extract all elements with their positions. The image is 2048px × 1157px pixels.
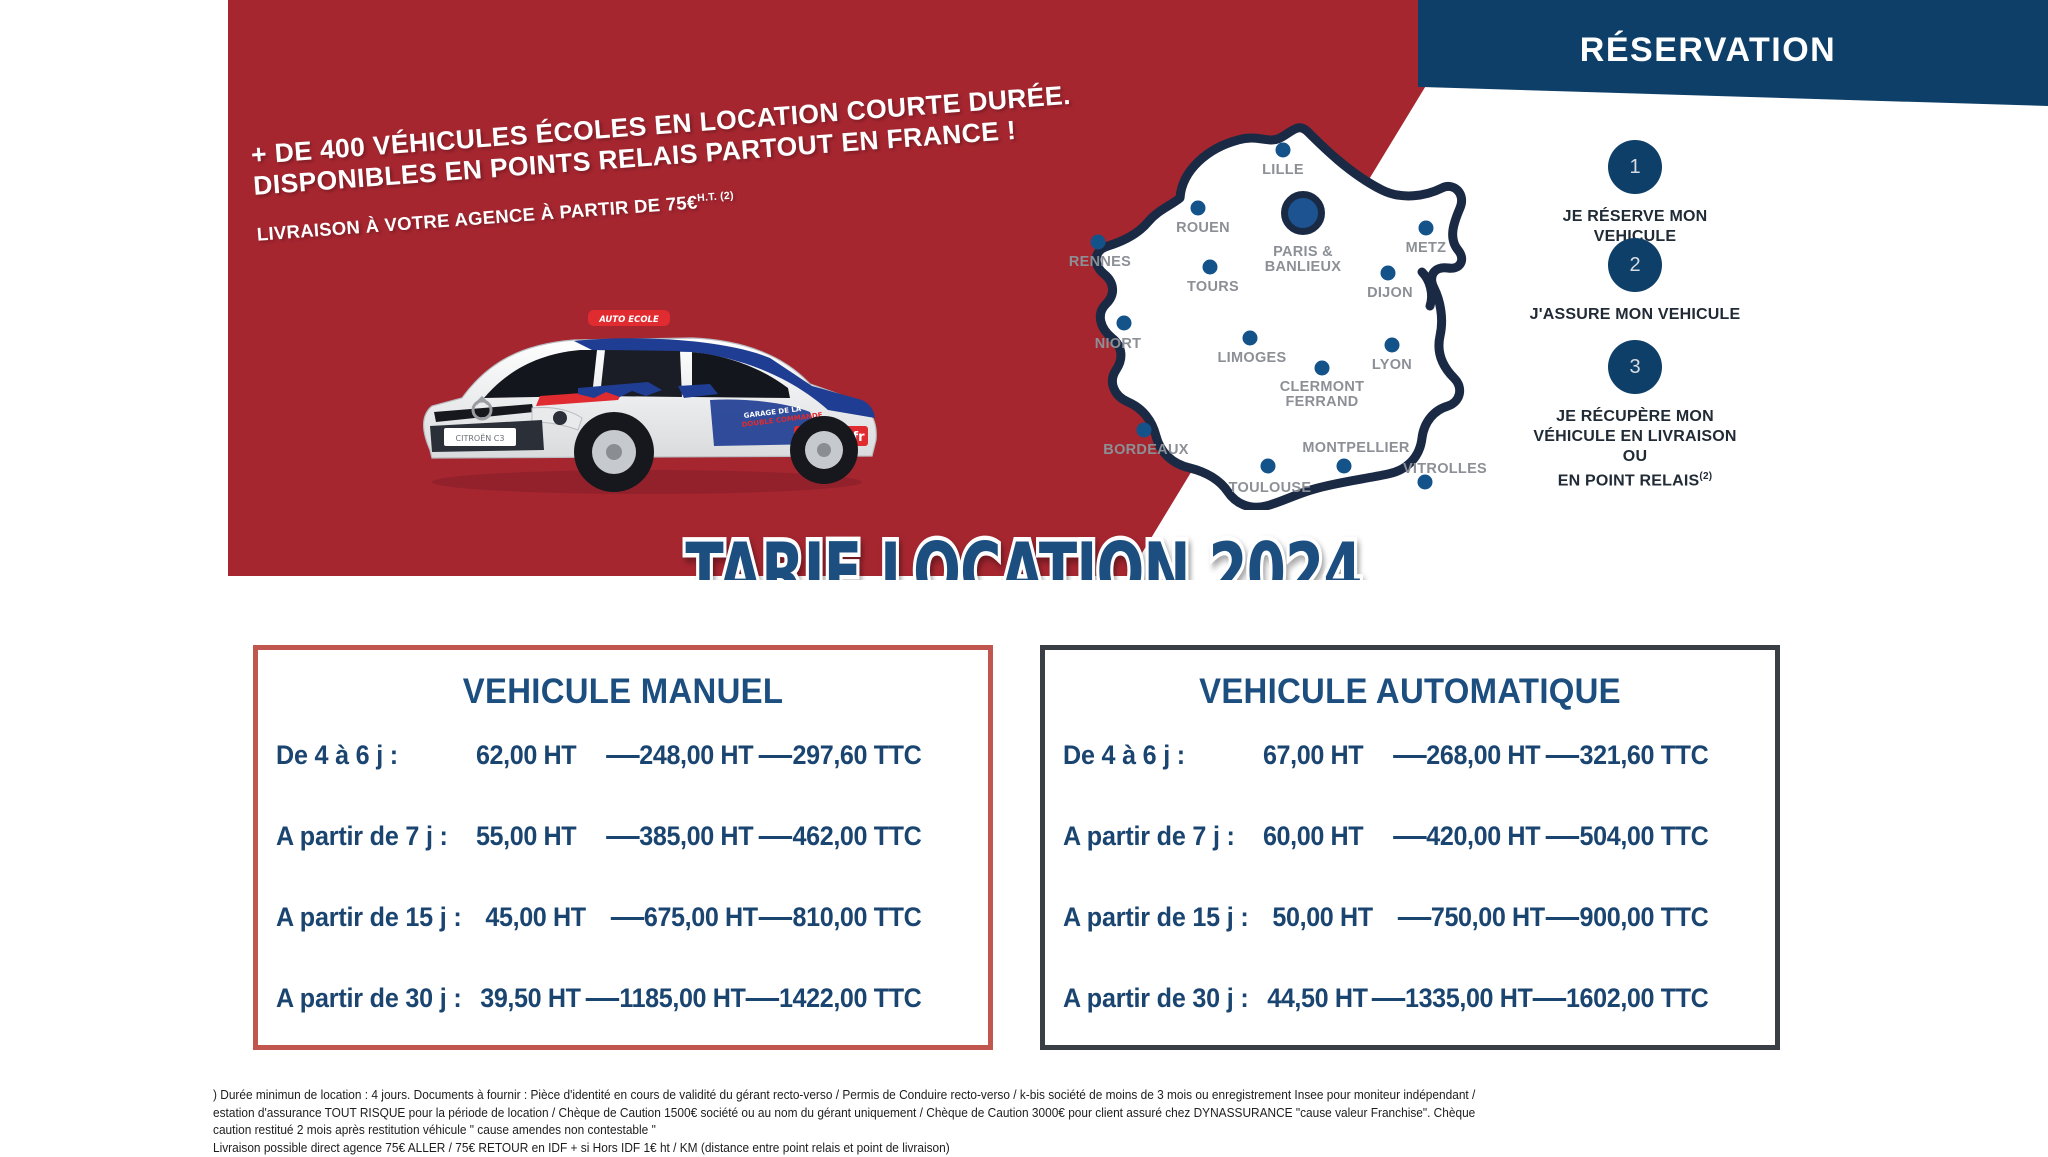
price-separator-rule xyxy=(1546,836,1579,839)
map-city-label-line: LYON xyxy=(1372,357,1412,373)
map-city-dot xyxy=(1243,331,1258,346)
map-city-dot xyxy=(1276,143,1291,158)
map-city-label: RENNES xyxy=(1069,254,1131,270)
reservation-step-1[interactable]: 1JE RÉSERVE MONVEHICULE xyxy=(1470,140,1800,247)
price-row-duration-label: De 4 à 6 j : xyxy=(1063,740,1236,771)
map-city-label-line: BANLIEUX xyxy=(1265,260,1342,275)
price-daily-ht: 60,00 HT xyxy=(1236,821,1364,852)
map-city-label-line: TOULOUSE xyxy=(1229,480,1312,496)
reservation-step-number-badge: 3 xyxy=(1608,340,1662,394)
map-city-dot xyxy=(1337,459,1352,474)
price-row-duration-label: De 4 à 6 j : xyxy=(276,740,449,771)
map-city-dot xyxy=(1091,235,1106,250)
price-separator-rule xyxy=(610,917,643,920)
price-separator-rule xyxy=(1532,998,1565,1001)
reservation-step-label-line: OU xyxy=(1470,447,1800,467)
map-city-label-line: BORDEAUX xyxy=(1103,442,1188,458)
legal-footnotes: ) Durée minimun de location : 4 jours. D… xyxy=(213,1087,1828,1157)
map-city-label-line: CLERMONT xyxy=(1280,380,1365,395)
price-total-ttc: 462,00 TTC xyxy=(753,821,921,852)
reservation-step-label: JE RÉCUPÈRE MONVÉHICULE EN LIVRAISONOUEN… xyxy=(1470,407,1800,491)
reservation-step-label-line: J'ASSURE MON VEHICULE xyxy=(1470,305,1800,325)
price-row: A partir de 15 j :50,00 HT750,00 HT900,0… xyxy=(1063,902,1708,983)
price-total-ht: 750,00 HT xyxy=(1373,902,1545,933)
auto-ecole-roof-sign: AUTO ECOLE xyxy=(588,310,670,326)
price-total-ttc: 297,60 TTC xyxy=(753,740,921,771)
map-city-dot xyxy=(1315,361,1330,376)
map-city-label: LILLE xyxy=(1262,162,1304,178)
map-city-label-line: NIORT xyxy=(1095,336,1142,352)
map-city-dot xyxy=(1281,191,1325,235)
reservation-step-2[interactable]: 2J'ASSURE MON VEHICULE xyxy=(1470,238,1800,325)
price-daily-ht: 45,00 HT xyxy=(462,902,586,933)
price-separator-rule xyxy=(1393,836,1426,839)
price-row: A partir de 7 j :60,00 HT420,00 HT504,00… xyxy=(1063,821,1708,902)
map-city-label: LYON xyxy=(1372,357,1412,373)
map-city-label-line: MONTPELLIER xyxy=(1302,440,1409,456)
price-separator-rule xyxy=(586,998,619,1001)
price-card-title: VEHICULE AUTOMATIQUE xyxy=(1067,672,1753,712)
price-separator-rule xyxy=(745,998,778,1001)
reservation-title: RÉSERVATION xyxy=(1418,0,1998,100)
map-city-dot xyxy=(1261,459,1276,474)
map-city-label-line: PARIS & xyxy=(1265,245,1342,260)
reservation-step-number-badge: 1 xyxy=(1608,140,1662,194)
price-row: A partir de 7 j :55,00 HT385,00 HT462,00… xyxy=(276,821,921,902)
price-total-ht: 1335,00 HT xyxy=(1368,983,1533,1014)
price-row-duration-label: A partir de 15 j : xyxy=(1063,902,1249,933)
map-city-label: LIMOGES xyxy=(1218,350,1287,366)
map-city-label-line: DIJON xyxy=(1367,285,1413,301)
map-city-label: MONTPELLIER xyxy=(1302,440,1409,456)
footnote-line-2: estation d'assurance TOUT RISQUE pour la… xyxy=(213,1105,1828,1123)
map-city-label-line: FERRAND xyxy=(1280,395,1365,410)
footnote-line-4: Livraison possible direct agence 75€ ALL… xyxy=(213,1140,1828,1157)
price-total-ht: 248,00 HT xyxy=(576,740,753,771)
map-city-label-line: RENNES xyxy=(1069,254,1131,270)
price-daily-ht: 62,00 HT xyxy=(449,740,577,771)
map-city-dot xyxy=(1137,423,1152,438)
price-separator-rule xyxy=(1393,755,1426,758)
price-total-ttc: 900,00 TTC xyxy=(1545,902,1709,933)
france-map: LILLEROUENPARIS &BANLIEUXMETZRENNESTOURS… xyxy=(1030,110,1500,510)
reservation-step-label-line: EN POINT RELAIS(2) xyxy=(1470,467,1800,491)
map-city-dot xyxy=(1385,338,1400,353)
price-total-ht: 675,00 HT xyxy=(586,902,758,933)
top-banner: RÉSERVATION + DE 400 VÉHICULES ÉCOLES EN… xyxy=(0,0,2048,580)
map-city-dot xyxy=(1419,221,1434,236)
reservation-step-label-line: VÉHICULE EN LIVRAISON xyxy=(1470,427,1800,447)
price-row: A partir de 15 j :45,00 HT675,00 HT810,0… xyxy=(276,902,921,983)
price-total-ttc: 1422,00 TTC xyxy=(745,983,921,1014)
price-total-ht: 385,00 HT xyxy=(576,821,753,852)
map-city-label: TOULOUSE xyxy=(1229,480,1312,496)
driving-school-car-illustration: AUTO ECOLE GARAGE DE LA DOUBLE COMMANDE … xyxy=(392,300,902,500)
footnote-line-3: caution restitué 2 mois après restitutio… xyxy=(213,1122,1828,1140)
price-separator-rule xyxy=(1371,998,1404,1001)
map-city-label: ROUEN xyxy=(1176,220,1230,236)
price-row-duration-label: A partir de 30 j : xyxy=(1063,983,1249,1014)
price-total-ttc: 810,00 TTC xyxy=(758,902,922,933)
price-row: A partir de 30 j :44,50 HT1335,00 HT1602… xyxy=(1063,983,1708,1064)
price-card-manual: VEHICULE MANUELDe 4 à 6 j :62,00 HT248,0… xyxy=(253,645,993,1050)
price-rows: De 4 à 6 j :62,00 HT248,00 HT297,60 TTCA… xyxy=(258,740,988,1064)
price-daily-ht: 50,00 HT xyxy=(1249,902,1373,933)
map-city-dot xyxy=(1191,201,1206,216)
map-city-dot xyxy=(1117,316,1132,331)
map-city-label: CLERMONTFERRAND xyxy=(1280,380,1365,410)
price-row-duration-label: A partir de 15 j : xyxy=(276,902,462,933)
reservation-step-label-line: JE RÉCUPÈRE MON xyxy=(1470,407,1800,427)
reservation-step-footnote-marker: (2) xyxy=(1699,471,1712,482)
price-daily-ht: 55,00 HT xyxy=(449,821,577,852)
price-separator-rule xyxy=(606,755,639,758)
price-card-automatique: VEHICULE AUTOMATIQUEDe 4 à 6 j :67,00 HT… xyxy=(1040,645,1780,1050)
price-total-ttc: 1602,00 TTC xyxy=(1532,983,1708,1014)
price-total-ttc: 321,60 TTC xyxy=(1540,740,1708,771)
map-city-label: TOURS xyxy=(1187,279,1239,295)
map-city-label: NIORT xyxy=(1095,336,1142,352)
price-row-duration-label: A partir de 30 j : xyxy=(276,983,462,1014)
map-city-label-line: LIMOGES xyxy=(1218,350,1287,366)
price-total-ht: 268,00 HT xyxy=(1363,740,1540,771)
reservation-step-3[interactable]: 3JE RÉCUPÈRE MONVÉHICULE EN LIVRAISONOUE… xyxy=(1470,340,1800,491)
price-total-ttc: 504,00 TTC xyxy=(1540,821,1708,852)
price-daily-ht: 67,00 HT xyxy=(1236,740,1364,771)
price-rows: De 4 à 6 j :67,00 HT268,00 HT321,60 TTCA… xyxy=(1045,740,1775,1064)
price-row: A partir de 30 j :39,50 HT1185,00 HT1422… xyxy=(276,983,921,1064)
price-total-ht: 420,00 HT xyxy=(1363,821,1540,852)
price-row: De 4 à 6 j :62,00 HT248,00 HT297,60 TTC xyxy=(276,740,921,821)
price-total-ht: 1185,00 HT xyxy=(581,983,746,1014)
price-separator-rule xyxy=(1546,917,1579,920)
price-card-title: VEHICULE MANUEL xyxy=(280,672,966,712)
price-separator-rule xyxy=(1546,755,1579,758)
price-row-duration-label: A partir de 7 j : xyxy=(276,821,449,852)
price-daily-ht: 39,50 HT xyxy=(462,983,581,1014)
price-separator-rule xyxy=(1397,917,1430,920)
map-city-dot xyxy=(1381,266,1396,281)
map-city-label-line: ROUEN xyxy=(1176,220,1230,236)
svg-text:CITROËN C3: CITROËN C3 xyxy=(456,433,505,443)
price-separator-rule xyxy=(759,917,792,920)
price-separator-rule xyxy=(606,836,639,839)
reservation-step-number-badge: 2 xyxy=(1608,238,1662,292)
price-separator-rule xyxy=(759,836,792,839)
price-row: De 4 à 6 j :67,00 HT268,00 HT321,60 TTC xyxy=(1063,740,1708,821)
price-separator-rule xyxy=(759,755,792,758)
map-city-label: METZ xyxy=(1406,240,1447,256)
svg-text:AUTO ECOLE: AUTO ECOLE xyxy=(598,315,659,325)
map-city-label-line: TOURS xyxy=(1187,279,1239,295)
footnote-line-1: ) Durée minimun de location : 4 jours. D… xyxy=(213,1087,1828,1105)
map-city-label-line: LILLE xyxy=(1262,162,1304,178)
reservation-step-label-line: JE RÉSERVE MON xyxy=(1470,207,1800,227)
delivery-subline-sup: H.T. (2) xyxy=(697,190,735,205)
map-city-label: DIJON xyxy=(1367,285,1413,301)
map-city-dot xyxy=(1203,260,1218,275)
price-row-duration-label: A partir de 7 j : xyxy=(1063,821,1236,852)
price-daily-ht: 44,50 HT xyxy=(1249,983,1368,1014)
reservation-step-label: J'ASSURE MON VEHICULE xyxy=(1470,305,1800,325)
map-city-label: BORDEAUX xyxy=(1103,442,1188,458)
map-city-label-line: METZ xyxy=(1406,240,1447,256)
map-city-label: PARIS &BANLIEUX xyxy=(1265,245,1342,275)
